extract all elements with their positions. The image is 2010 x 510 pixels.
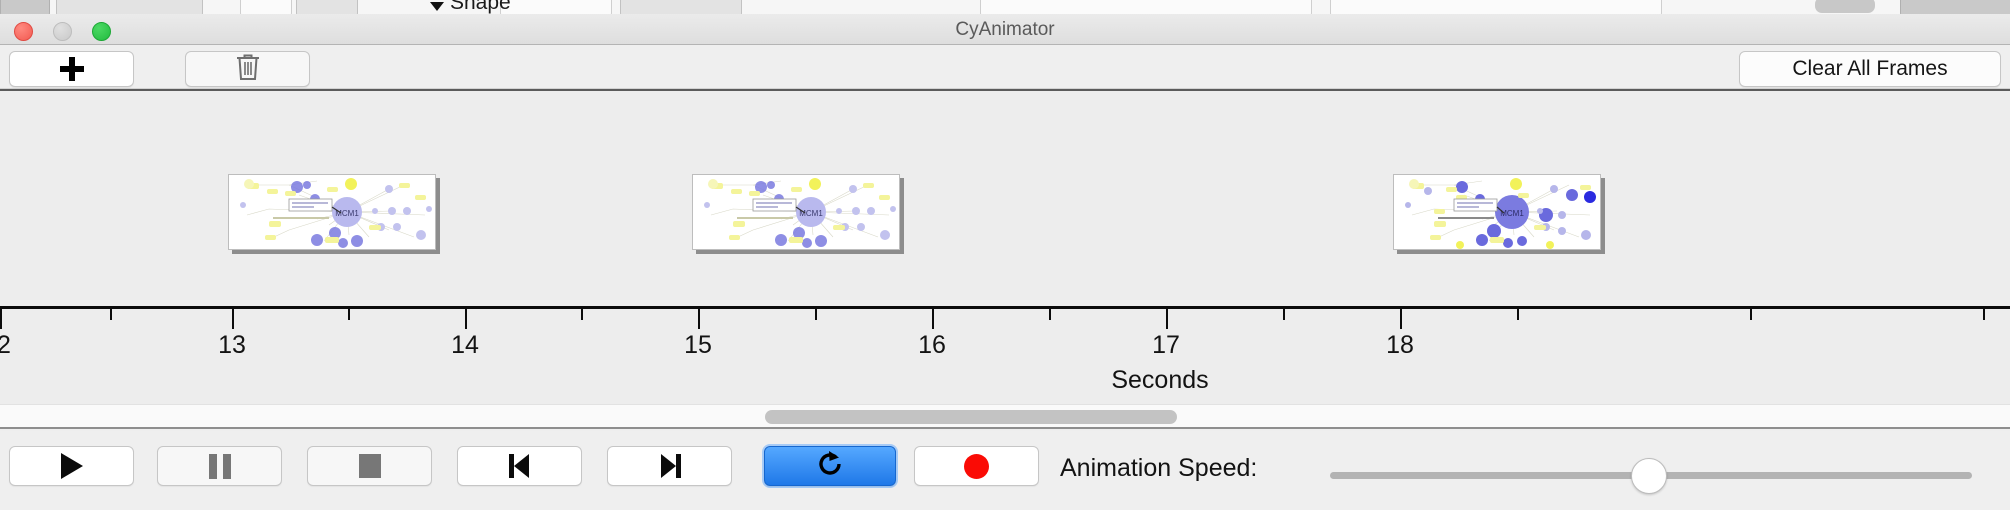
plus-icon bbox=[60, 57, 84, 81]
network-graph-icon: MCM1 bbox=[1394, 175, 1600, 249]
loop-button[interactable] bbox=[764, 446, 896, 486]
axis-minor-tick bbox=[110, 309, 112, 320]
axis-major-tick bbox=[698, 309, 700, 329]
stop-icon bbox=[359, 454, 381, 478]
network-graph-icon: MCM1 bbox=[229, 175, 435, 249]
timeline-axis bbox=[0, 306, 2010, 309]
play-button[interactable] bbox=[9, 446, 134, 486]
axis-minor-tick bbox=[1983, 309, 1985, 320]
pause-button[interactable] bbox=[157, 446, 282, 486]
axis-major-tick bbox=[232, 309, 234, 329]
axis-tick-label: 2 bbox=[0, 331, 11, 360]
title-bar: CyAnimator bbox=[0, 14, 2010, 45]
timeline-frame[interactable]: MCM1 bbox=[1393, 174, 1605, 254]
axis-minor-tick bbox=[1283, 309, 1285, 320]
axis-major-tick bbox=[1400, 309, 1402, 329]
cyanimator-window: Shape CyAnimator Clear All Frames bbox=[0, 0, 2010, 510]
delete-frame-button[interactable] bbox=[185, 51, 310, 87]
play-icon bbox=[61, 453, 83, 479]
stop-button[interactable] bbox=[307, 446, 432, 486]
axis-tick-label: 15 bbox=[684, 331, 712, 360]
add-frame-button[interactable] bbox=[9, 51, 134, 87]
previous-frame-button[interactable] bbox=[457, 446, 582, 486]
clear-all-frames-button[interactable]: Clear All Frames bbox=[1739, 51, 2001, 87]
svg-text:MCM1: MCM1 bbox=[799, 209, 823, 218]
axis-minor-tick bbox=[581, 309, 583, 320]
svg-text:MCM1: MCM1 bbox=[1500, 209, 1524, 218]
axis-major-tick bbox=[1166, 309, 1168, 329]
trash-icon bbox=[235, 52, 261, 87]
axis-tick-label: 17 bbox=[1152, 331, 1180, 360]
window-title: CyAnimator bbox=[0, 19, 2010, 41]
bg-chip bbox=[296, 0, 358, 15]
bg-chip bbox=[1900, 0, 2010, 15]
record-icon bbox=[964, 454, 989, 479]
timeline-frame[interactable]: MCM1 bbox=[692, 174, 904, 254]
bg-chip bbox=[240, 0, 292, 15]
axis-minor-tick bbox=[1517, 309, 1519, 320]
axis-major-tick bbox=[0, 309, 2, 329]
next-frame-button[interactable] bbox=[607, 446, 732, 486]
skip-forward-icon bbox=[657, 453, 683, 479]
axis-tick-label: 13 bbox=[218, 331, 246, 360]
bg-scrollbar-thumb[interactable] bbox=[1815, 0, 1875, 13]
bg-chip bbox=[620, 0, 742, 15]
timeline-frame[interactable]: MCM1 bbox=[228, 174, 440, 254]
frames-area[interactable]: MCM1 bbox=[0, 91, 2010, 306]
axis-tick-label: 16 bbox=[918, 331, 946, 360]
frame-thumbnail: MCM1 bbox=[1393, 174, 1601, 250]
bg-window-label: Shape bbox=[450, 0, 511, 15]
record-button[interactable] bbox=[914, 446, 1039, 486]
axis-major-tick bbox=[932, 309, 934, 329]
playback-control-bar: Animation Speed: bbox=[0, 431, 2010, 510]
axis-tick-label: 18 bbox=[1386, 331, 1414, 360]
loop-icon bbox=[815, 449, 845, 484]
frame-thumbnail: MCM1 bbox=[228, 174, 436, 250]
axis-tick-label: 14 bbox=[451, 331, 479, 360]
bg-chip bbox=[980, 0, 1312, 15]
bg-chip bbox=[1330, 0, 1662, 15]
frame-thumbnail: MCM1 bbox=[692, 174, 900, 250]
timeline-scrollbar-thumb[interactable] bbox=[765, 410, 1177, 424]
animation-speed-label: Animation Speed: bbox=[1060, 454, 1257, 483]
timeline-panel[interactable]: MCM1 bbox=[0, 89, 2010, 404]
bg-arrow-icon bbox=[430, 2, 444, 11]
bg-chip bbox=[0, 0, 50, 15]
axis-major-tick bbox=[465, 309, 467, 329]
frame-toolbar: Clear All Frames bbox=[0, 45, 2010, 89]
axis-minor-tick bbox=[348, 309, 350, 320]
background-window-strip: Shape bbox=[0, 0, 2010, 15]
axis-minor-tick bbox=[1049, 309, 1051, 320]
animation-speed-slider-thumb[interactable] bbox=[1631, 458, 1667, 494]
axis-title: Seconds bbox=[1111, 366, 1208, 395]
pause-icon bbox=[209, 454, 231, 479]
network-graph-icon: MCM1 bbox=[693, 175, 899, 249]
bg-chip bbox=[500, 0, 612, 15]
axis-minor-tick bbox=[815, 309, 817, 320]
timeline-scrollbar[interactable] bbox=[0, 404, 2010, 429]
axis-minor-tick bbox=[1750, 309, 1752, 320]
skip-back-icon bbox=[507, 453, 533, 479]
bg-chip bbox=[56, 0, 203, 15]
svg-text:MCM1: MCM1 bbox=[335, 209, 359, 218]
